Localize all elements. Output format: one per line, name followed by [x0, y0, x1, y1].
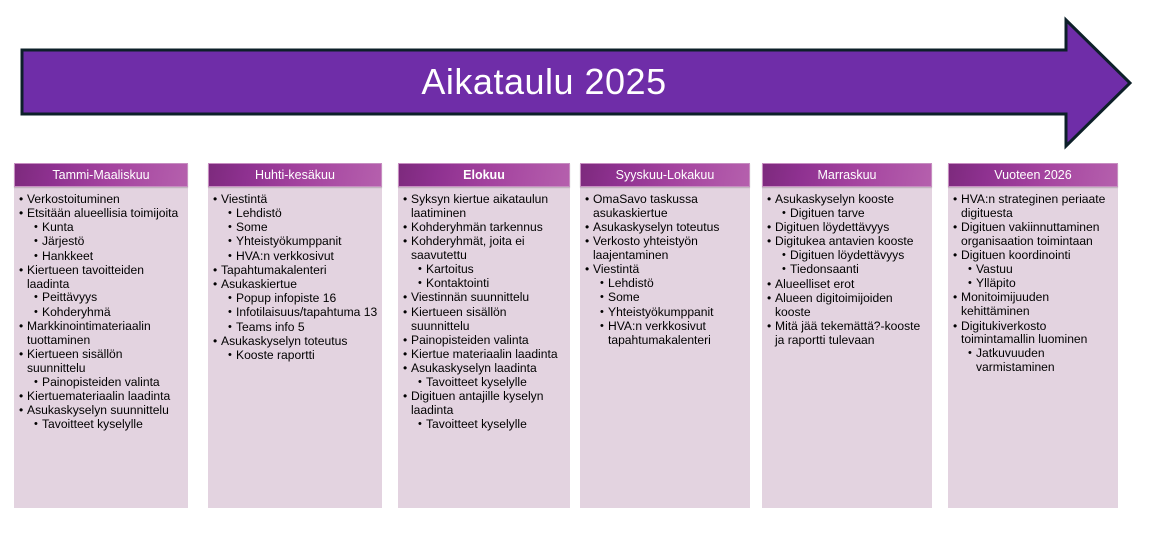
- sub-bullet-list: Tavoitteet kyselylle: [411, 376, 566, 390]
- timeline-column: MarraskuuAsukaskyselyn koosteDigituen ta…: [762, 163, 932, 508]
- sub-list-item-label: Yhteistyökumppanit: [236, 235, 378, 249]
- list-item: Asukaskyselyn laadintaTavoitteet kyselyl…: [402, 362, 566, 390]
- list-item-label: Syksyn kiertue aikataulun laatiminen: [411, 193, 566, 221]
- sub-list-item-label: HVA:n verkkosivut: [236, 250, 378, 264]
- sub-list-item: Kartoitus: [417, 263, 566, 277]
- list-item: Alueelliset erot: [766, 278, 928, 292]
- sub-list-item: Kohderyhmä: [33, 306, 184, 320]
- sub-list-item: Tavoitteet kyselylle: [33, 418, 184, 432]
- sub-list-item: Some: [599, 291, 746, 305]
- sub-bullet-list: Tavoitteet kyselylle: [411, 418, 566, 432]
- list-item: ViestintäLehdistöSomeYhteistyökumppanitH…: [584, 263, 746, 347]
- list-item: Kohderyhmän tarkennus: [402, 221, 566, 235]
- list-item: Verkosto yhteistyön laajentaminen: [584, 235, 746, 263]
- timeline-columns: Tammi-MaaliskuuVerkostoituminenEtsitään …: [0, 163, 1164, 513]
- column-body: Asukaskyselyn koosteDigituen tarveDigitu…: [762, 187, 932, 508]
- sub-bullet-list: VastuuYlläpito: [961, 263, 1114, 291]
- sub-list-item-label: Some: [608, 291, 746, 305]
- sub-list-item-label: Jatkuvuuden varmistaminen: [976, 347, 1114, 375]
- sub-list-item-label: Kunta: [42, 221, 184, 235]
- list-item: Painopisteiden valinta: [402, 334, 566, 348]
- sub-list-item-label: Järjestö: [42, 235, 184, 249]
- list-item-label: Asukaskyselyn laadinta: [411, 362, 566, 376]
- sub-list-item: Teams info 5: [227, 321, 378, 335]
- sub-bullet-list: Painopisteiden valinta: [27, 376, 184, 390]
- timeline-column: ElokuuSyksyn kiertue aikataulun laatimin…: [398, 163, 570, 508]
- sub-list-item-label: HVA:n verkkosivut tapahtumakalenteri: [608, 320, 746, 348]
- list-item-label: Verkostoituminen: [27, 193, 184, 207]
- list-item-label: Viestintä: [221, 193, 378, 207]
- column-body: HVA:n strateginen periaate digituestaDig…: [948, 187, 1118, 508]
- list-item-label: Asukaskyselyn kooste: [775, 193, 928, 207]
- sub-list-item: Vastuu: [967, 263, 1114, 277]
- sub-list-item: Kontaktointi: [417, 277, 566, 291]
- sub-bullet-list: KartoitusKontaktointi: [411, 263, 566, 291]
- list-item-label: Mitä jää tekemättä?-kooste ja raportti t…: [775, 320, 928, 348]
- sub-list-item: Digituen löydettävyys: [781, 249, 928, 263]
- sub-bullet-list: LehdistöSomeYhteistyökumppanitHVA:n verk…: [221, 207, 378, 264]
- sub-list-item: Tavoitteet kyselylle: [417, 418, 566, 432]
- timeline-column: Tammi-MaaliskuuVerkostoituminenEtsitään …: [14, 163, 188, 508]
- bullet-list: VerkostoituminenEtsitään alueellisia toi…: [18, 193, 184, 432]
- sub-list-item-label: Teams info 5: [236, 321, 378, 335]
- sub-list-item: Kunta: [33, 221, 184, 235]
- list-item-label: Digituen antajille kyselyn laadinta: [411, 390, 566, 418]
- column-body: ViestintäLehdistöSomeYhteistyökumppanitH…: [208, 187, 382, 508]
- sub-list-item: Yhteistyökumppanit: [599, 306, 746, 320]
- timeline-column: Syyskuu-LokakuuOmaSavo taskussa asukaski…: [580, 163, 750, 508]
- list-item: Markkinointimateriaalin tuottaminen: [18, 320, 184, 348]
- list-item: Asukaskyselyn toteutusKooste raportti: [212, 335, 378, 363]
- column-header[interactable]: Marraskuu: [762, 163, 932, 187]
- sub-list-item: Peittävyys: [33, 291, 184, 305]
- column-header[interactable]: Vuoteen 2026: [948, 163, 1118, 187]
- list-item: Asukaskyselyn koosteDigituen tarve: [766, 193, 928, 221]
- list-item: HVA:n strateginen periaate digituesta: [952, 193, 1114, 221]
- list-item-label: Alueelliset erot: [775, 278, 928, 292]
- list-item-label: Alueen digitoimijoiden kooste: [775, 292, 928, 320]
- sub-list-item-label: Kartoitus: [426, 263, 566, 277]
- list-item-label: Etsitään alueellisia toimijoita: [27, 207, 184, 221]
- list-item: Digituen koordinointiVastuuYlläpito: [952, 249, 1114, 291]
- sub-list-item: Lehdistö: [227, 207, 378, 221]
- list-item-label: Kiertueen sisällön suunnittelu: [411, 306, 566, 334]
- bullet-list: Asukaskyselyn koosteDigituen tarveDigitu…: [766, 193, 928, 348]
- list-item: Kohderyhmät, joita ei saavutettuKartoitu…: [402, 235, 566, 291]
- list-item: Verkostoituminen: [18, 193, 184, 207]
- list-item: Kiertue materiaalin laadinta: [402, 348, 566, 362]
- bullet-list: Syksyn kiertue aikataulun laatiminenKohd…: [402, 193, 566, 432]
- list-item: Asukaskyselyn toteutus: [584, 221, 746, 235]
- bullet-list: HVA:n strateginen periaate digituestaDig…: [952, 193, 1114, 375]
- sub-list-item-label: Tavoitteet kyselylle: [426, 418, 566, 432]
- sub-list-item-label: Kohderyhmä: [42, 306, 184, 320]
- list-item-label: Tapahtumakalenteri: [221, 264, 378, 278]
- sub-list-item: Järjestö: [33, 235, 184, 249]
- sub-bullet-list: LehdistöSomeYhteistyökumppanitHVA:n verk…: [593, 277, 746, 347]
- column-header[interactable]: Huhti-kesäkuu: [208, 163, 382, 187]
- sub-list-item: Kooste raportti: [227, 349, 378, 363]
- sub-list-item-label: Vastuu: [976, 263, 1114, 277]
- bullet-list: ViestintäLehdistöSomeYhteistyökumppanitH…: [212, 193, 378, 362]
- list-item: Mitä jää tekemättä?-kooste ja raportti t…: [766, 320, 928, 348]
- list-item: ViestintäLehdistöSomeYhteistyökumppanitH…: [212, 193, 378, 263]
- sub-list-item-label: Ylläpito: [976, 277, 1114, 291]
- sub-list-item-label: Kooste raportti: [236, 349, 378, 363]
- list-item-label: Kiertue materiaalin laadinta: [411, 348, 566, 362]
- timeline-column: Vuoteen 2026HVA:n strateginen periaate d…: [948, 163, 1118, 508]
- list-item-label: Digituen koordinointi: [961, 249, 1114, 263]
- sub-list-item-label: Peittävyys: [42, 291, 184, 305]
- sub-list-item: Yhteistyökumppanit: [227, 235, 378, 249]
- sub-list-item-label: Yhteistyökumppanit: [608, 306, 746, 320]
- list-item: Viestinnän suunnittelu: [402, 291, 566, 305]
- list-item: Alueen digitoimijoiden kooste: [766, 292, 928, 320]
- sub-bullet-list: KuntaJärjestöHankkeet: [27, 221, 184, 263]
- arrow-shape-icon: [0, 0, 1164, 160]
- sub-list-item: Infotilaisuus/tapahtuma 13: [227, 306, 378, 320]
- list-item-label: Kohderyhmät, joita ei saavutettu: [411, 235, 566, 263]
- sub-list-item: HVA:n verkkosivut tapahtumakalenteri: [599, 320, 746, 348]
- list-item-label: Viestintä: [593, 263, 746, 277]
- sub-bullet-list: PeittävyysKohderyhmä: [27, 291, 184, 319]
- list-item-label: Monitoimijuuden kehittäminen: [961, 291, 1114, 319]
- sub-list-item: Ylläpito: [967, 277, 1114, 291]
- list-item-label: Digitukiverkosto toimintamallin luominen: [961, 320, 1114, 348]
- sub-bullet-list: Digituen tarve: [775, 207, 928, 221]
- sub-list-item: Some: [227, 221, 378, 235]
- list-item-label: Digituen löydettävyys: [775, 221, 928, 235]
- list-item-label: Kiertuemateriaalin laadinta: [27, 390, 184, 404]
- column-header[interactable]: Tammi-Maaliskuu: [14, 163, 188, 187]
- list-item: Syksyn kiertue aikataulun laatiminen: [402, 193, 566, 221]
- list-item: Digituen vakiinnuttaminen organisaation …: [952, 221, 1114, 249]
- list-item-label: Asukaskyselyn toteutus: [221, 335, 378, 349]
- sub-list-item: Jatkuvuuden varmistaminen: [967, 347, 1114, 375]
- list-item: Digitukea antavien koosteDigituen löydet…: [766, 235, 928, 277]
- list-item-label: Kohderyhmän tarkennus: [411, 221, 566, 235]
- list-item-label: Asukaskiertue: [221, 278, 378, 292]
- sub-list-item: Tiedonsaanti: [781, 263, 928, 277]
- column-body: Syksyn kiertue aikataulun laatiminenKohd…: [398, 187, 570, 508]
- list-item: Kiertuemateriaalin laadinta: [18, 390, 184, 404]
- sub-list-item: Lehdistö: [599, 277, 746, 291]
- sub-list-item-label: Painopisteiden valinta: [42, 376, 184, 390]
- list-item-label: Asukaskyselyn suunnittelu: [27, 404, 184, 418]
- sub-list-item-label: Tiedonsaanti: [790, 263, 928, 277]
- list-item: Kiertueen sisällön suunnitteluPainopiste…: [18, 348, 184, 389]
- column-body: OmaSavo taskussa asukaskiertueAsukaskyse…: [580, 187, 750, 508]
- list-item: Etsitään alueellisia toimijoitaKuntaJärj…: [18, 207, 184, 263]
- sub-list-item-label: Some: [236, 221, 378, 235]
- list-item-label: Markkinointimateriaalin tuottaminen: [27, 320, 184, 348]
- sub-list-item-label: Kontaktointi: [426, 277, 566, 291]
- list-item: Digituen löydettävyys: [766, 221, 928, 235]
- sub-list-item: Hankkeet: [33, 250, 184, 264]
- list-item-label: OmaSavo taskussa asukaskiertue: [593, 193, 746, 221]
- list-item-label: HVA:n strateginen periaate digituesta: [961, 193, 1114, 221]
- list-item-label: Kiertueen tavoitteiden laadinta: [27, 264, 184, 292]
- list-item: Kiertueen tavoitteiden laadintaPeittävyy…: [18, 264, 184, 320]
- list-item-label: Digituen vakiinnuttaminen organisaation …: [961, 221, 1114, 249]
- sub-list-item-label: Popup infopiste 16: [236, 292, 378, 306]
- list-item: Kiertueen sisällön suunnittelu: [402, 306, 566, 334]
- title-banner: Aikataulu 2025: [0, 0, 1164, 160]
- sub-bullet-list: Jatkuvuuden varmistaminen: [961, 347, 1114, 375]
- sub-list-item-label: Lehdistö: [608, 277, 746, 291]
- list-item-label: Asukaskyselyn toteutus: [593, 221, 746, 235]
- list-item: Digituen antajille kyselyn laadintaTavoi…: [402, 390, 566, 431]
- sub-bullet-list: Kooste raportti: [221, 349, 378, 363]
- sub-list-item-label: Tavoitteet kyselylle: [426, 376, 566, 390]
- list-item-label: Digitukea antavien kooste: [775, 235, 928, 249]
- sub-list-item-label: Hankkeet: [42, 250, 184, 264]
- column-header[interactable]: Syyskuu-Lokakuu: [580, 163, 750, 187]
- column-header[interactable]: Elokuu: [398, 163, 570, 187]
- list-item: Digitukiverkosto toimintamallin luominen…: [952, 320, 1114, 375]
- sub-list-item-label: Digituen tarve: [790, 207, 928, 221]
- list-item-label: Verkosto yhteistyön laajentaminen: [593, 235, 746, 263]
- column-body: VerkostoituminenEtsitään alueellisia toi…: [14, 187, 188, 508]
- list-item: Asukaskyselyn suunnitteluTavoitteet kyse…: [18, 404, 184, 432]
- sub-list-item: Popup infopiste 16: [227, 292, 378, 306]
- sub-bullet-list: Tavoitteet kyselylle: [27, 418, 184, 432]
- sub-list-item-label: Lehdistö: [236, 207, 378, 221]
- list-item-label: Kiertueen sisällön suunnittelu: [27, 348, 184, 376]
- list-item-label: Painopisteiden valinta: [411, 334, 566, 348]
- sub-list-item: HVA:n verkkosivut: [227, 250, 378, 264]
- sub-list-item: Digituen tarve: [781, 207, 928, 221]
- sub-bullet-list: Popup infopiste 16Infotilaisuus/tapahtum…: [221, 292, 378, 334]
- sub-list-item: Painopisteiden valinta: [33, 376, 184, 390]
- timeline-column: Huhti-kesäkuuViestintäLehdistöSomeYhteis…: [208, 163, 382, 508]
- sub-list-item: Tavoitteet kyselylle: [417, 376, 566, 390]
- bullet-list: OmaSavo taskussa asukaskiertueAsukaskyse…: [584, 193, 746, 348]
- sub-list-item-label: Infotilaisuus/tapahtuma 13: [236, 306, 378, 320]
- list-item: Monitoimijuuden kehittäminen: [952, 291, 1114, 319]
- list-item: Tapahtumakalenteri: [212, 264, 378, 278]
- list-item-label: Viestinnän suunnittelu: [411, 291, 566, 305]
- list-item: OmaSavo taskussa asukaskiertue: [584, 193, 746, 221]
- sub-list-item-label: Tavoitteet kyselylle: [42, 418, 184, 432]
- sub-list-item-label: Digituen löydettävyys: [790, 249, 928, 263]
- list-item: AsukaskiertuePopup infopiste 16Infotilai…: [212, 278, 378, 334]
- sub-bullet-list: Digituen löydettävyysTiedonsaanti: [775, 249, 928, 277]
